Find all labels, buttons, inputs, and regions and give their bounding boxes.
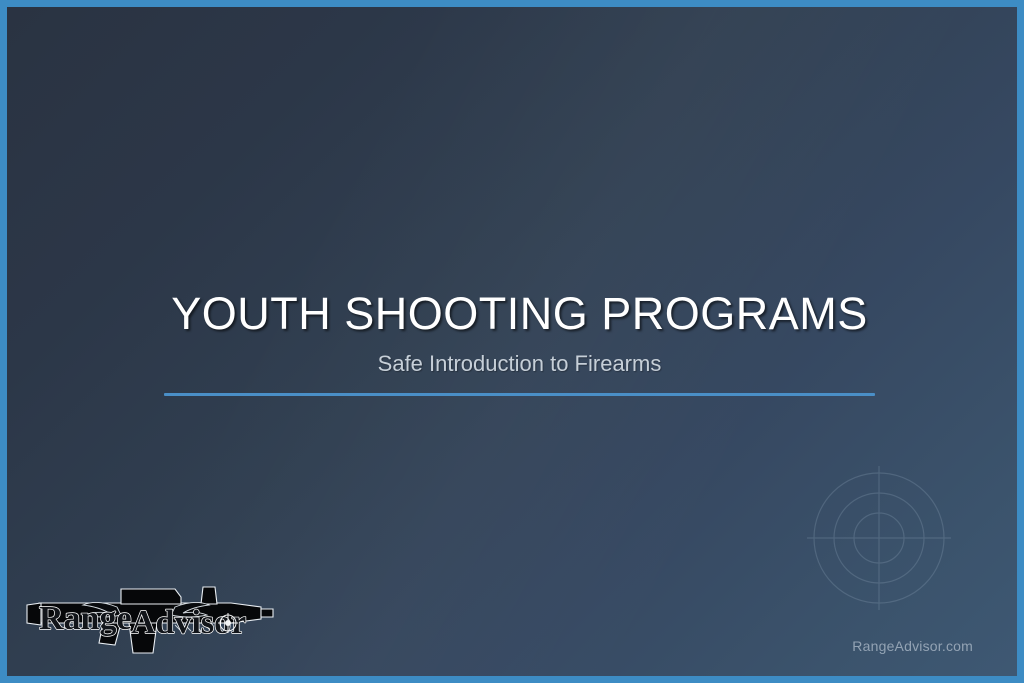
crosshair-target-icon	[807, 466, 951, 610]
page-subtitle: Safe Introduction to Firearms	[164, 351, 875, 377]
footer-website-url: RangeAdvisor.com	[852, 638, 973, 654]
brand-logo: Range Advisor	[25, 573, 275, 659]
brand-word-range: Range	[39, 600, 132, 637]
page-title: YOUTH SHOOTING PROGRAMS	[164, 290, 875, 339]
brand-wordmark: Range Advisor	[39, 600, 246, 641]
title-block: YOUTH SHOOTING PROGRAMS Safe Introductio…	[164, 290, 875, 396]
title-accent-rule	[164, 393, 875, 396]
presentation-slide: YOUTH SHOOTING PROGRAMS Safe Introductio…	[0, 0, 1024, 683]
